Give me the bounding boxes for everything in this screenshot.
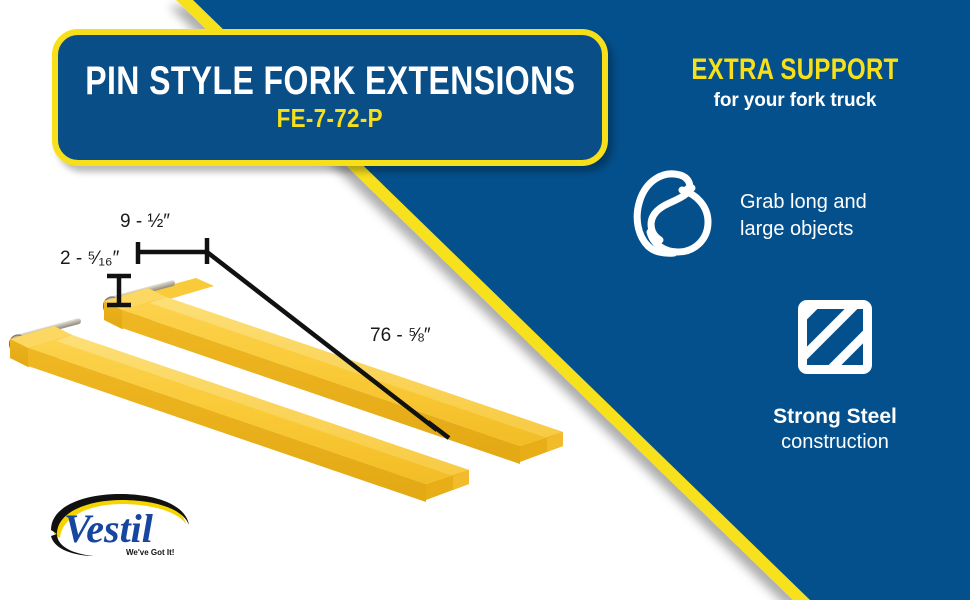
right-headline-block: EXTRA SUPPORT for your fork truck xyxy=(620,55,970,112)
page-title: PIN STYLE FORK EXTENSIONS xyxy=(85,61,575,102)
feature-grab-line-2: large objects xyxy=(740,218,853,240)
feature-steel-subtitle: construction xyxy=(700,431,970,454)
feature-grab-line-1: Grab long and xyxy=(740,191,867,213)
model-number: FE-7-72-P xyxy=(277,103,383,134)
dimension-label-height: 2 - ⁵⁄₁₆″ xyxy=(60,248,119,270)
dimension-label-length: 76 - ⅝″ xyxy=(370,325,431,347)
feature-steel-title: Strong Steel xyxy=(700,405,970,429)
dimension-lines xyxy=(0,180,680,480)
vestil-logo: Vestil We've Got It! xyxy=(48,494,190,560)
logo-tagline: We've Got It! xyxy=(126,548,174,557)
subheadline: for your fork truck xyxy=(620,90,970,112)
marketing-banner: PIN STYLE FORK EXTENSIONS FE-7-72-P EXTR… xyxy=(0,0,970,600)
dimension-label-width: 9 - ½″ xyxy=(120,211,170,233)
title-badge: PIN STYLE FORK EXTENSIONS FE-7-72-P xyxy=(52,29,608,166)
logo-wordmark: Vestil xyxy=(64,506,154,551)
hatched-steel-square-icon xyxy=(798,300,872,379)
feature-strong-steel: Strong Steel construction xyxy=(700,300,970,454)
headline: EXTRA SUPPORT xyxy=(655,55,935,85)
feature-grab-objects-text: Grab long and large objects xyxy=(740,189,867,242)
